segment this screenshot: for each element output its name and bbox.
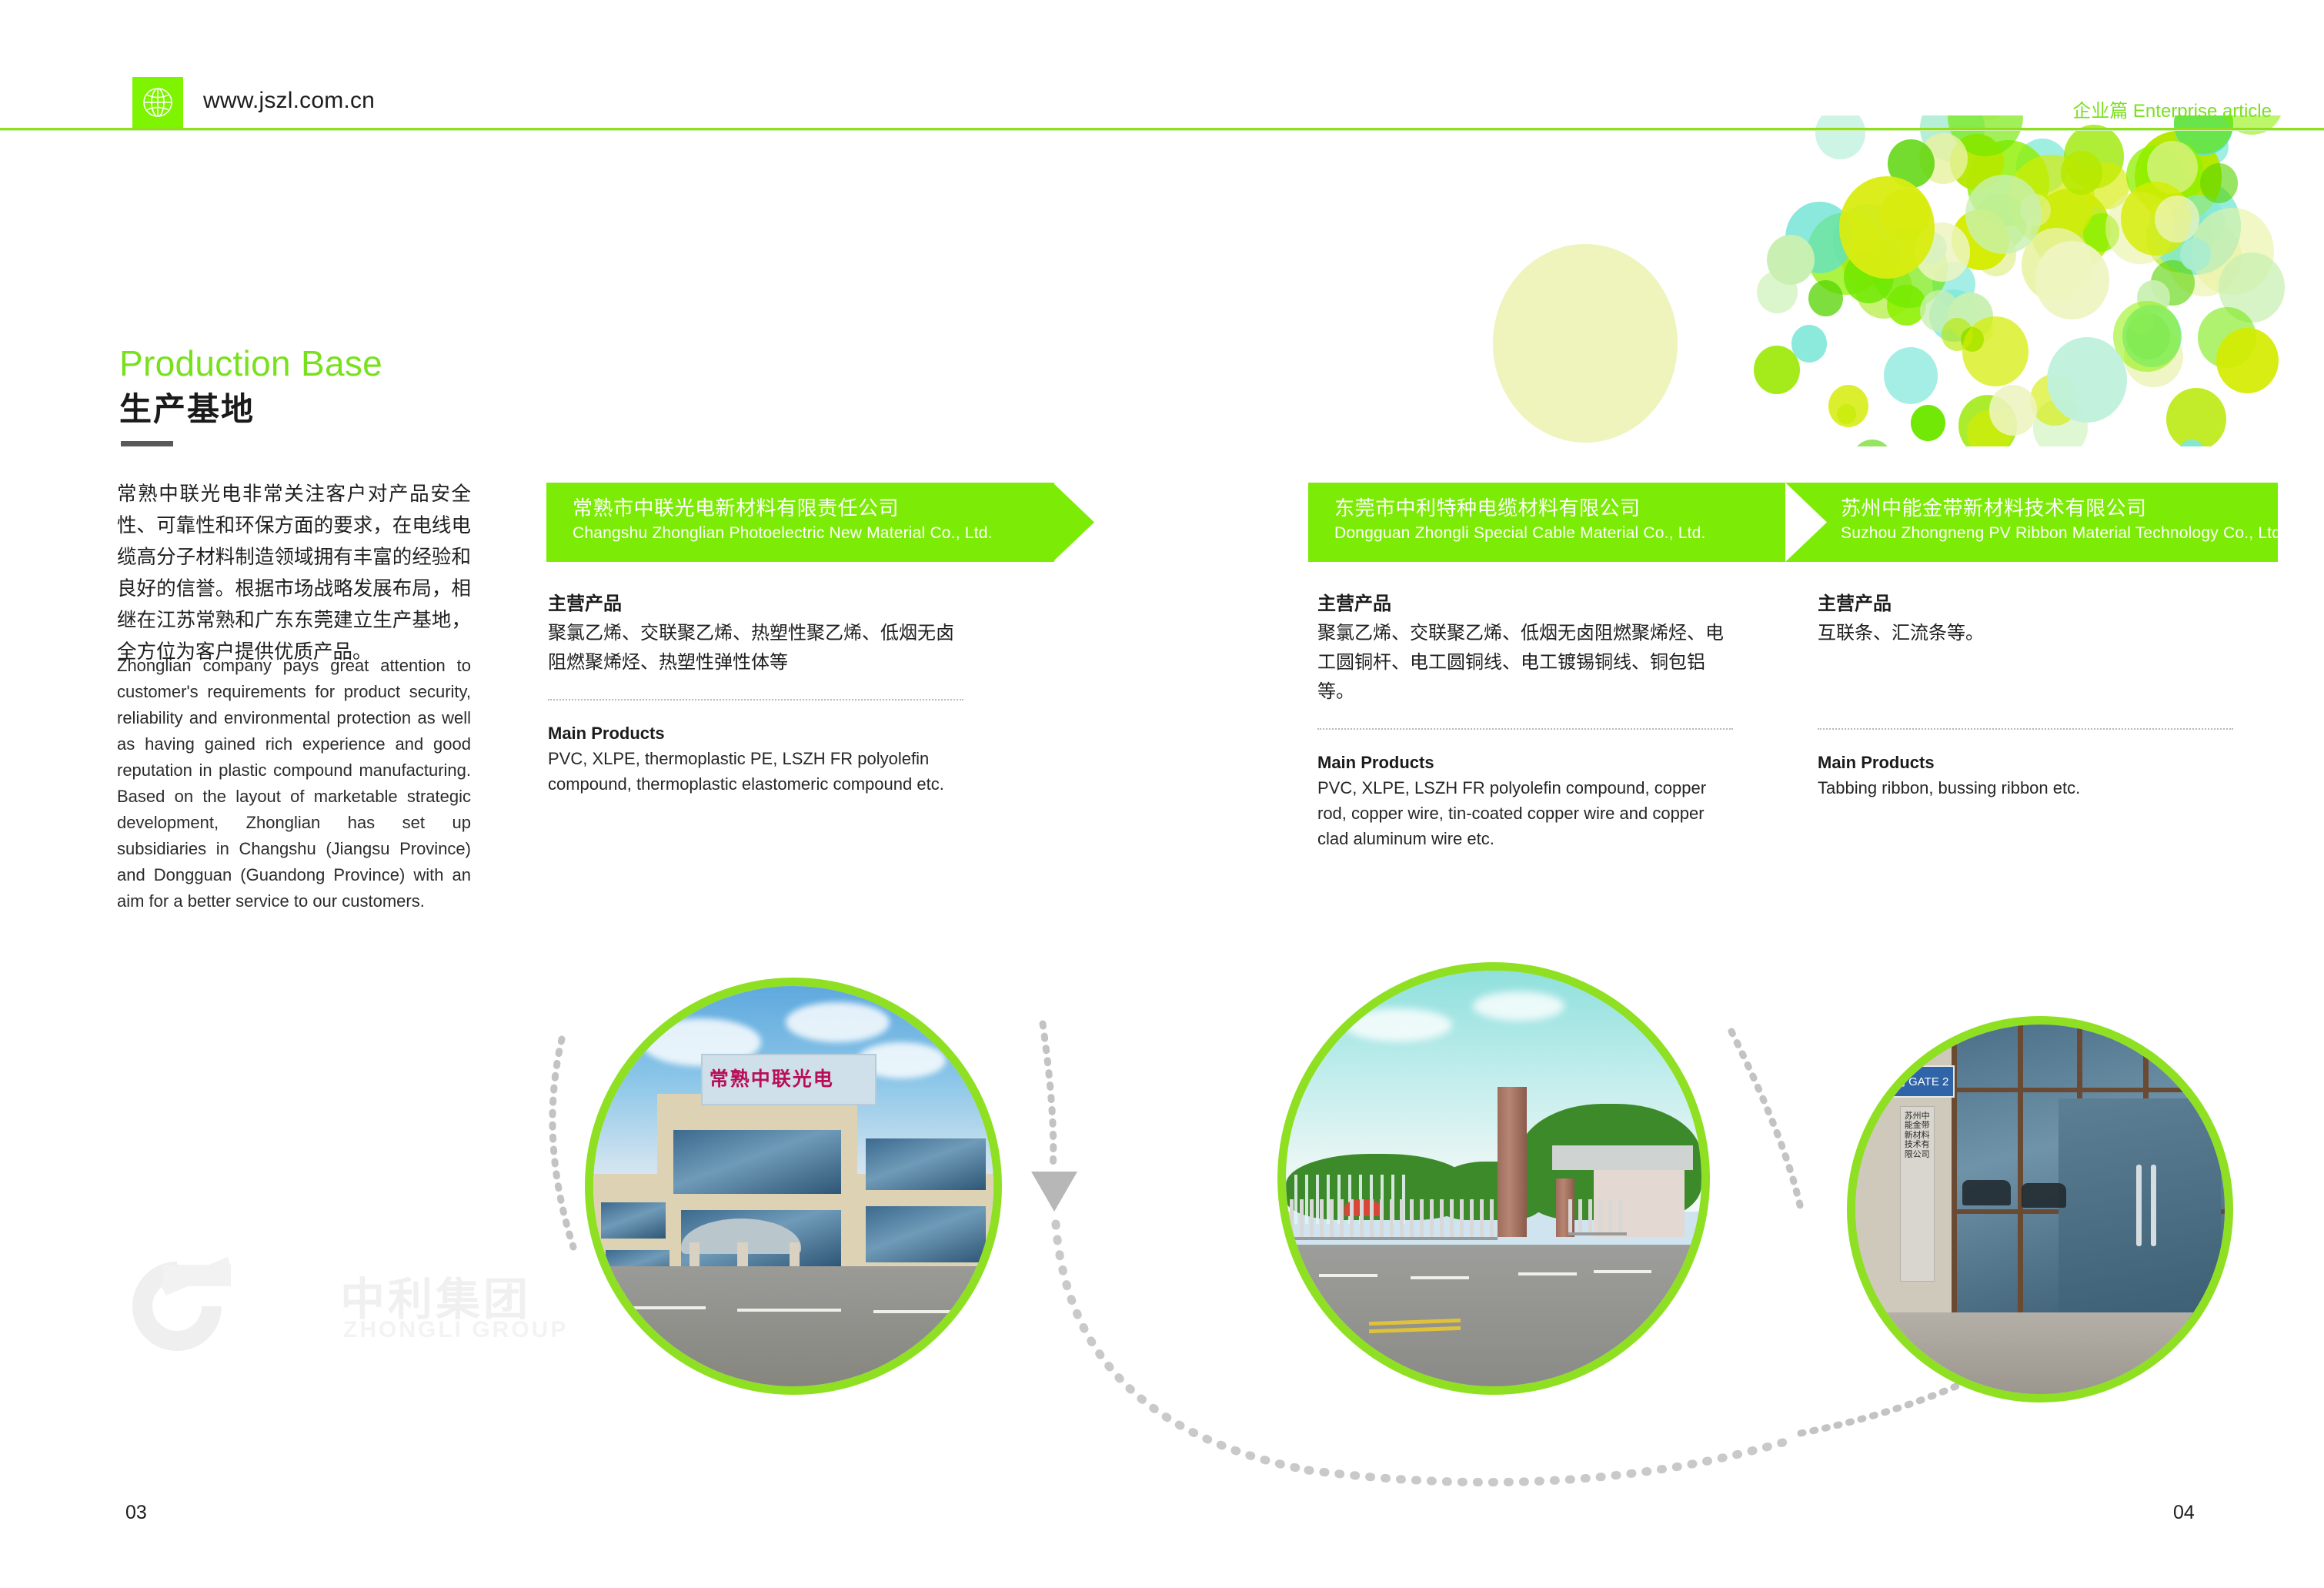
photo-caption-3: 2号门 GATE 2 [1870,1065,1955,1098]
dotted-curve-1 [1056,1224,1308,1470]
facility-photo-1: 常熟中联光电 [585,978,1002,1395]
bubble-decoration [1462,115,2324,446]
products-heading-en-2: Main Products [1317,750,1733,775]
dashed-arc-top-1 [1043,1024,1053,1170]
products-body-cn-3: 互联条、汇流条等。 [1818,619,2233,648]
company-name-en-1: Changshu Zhonglian Photoelectric New Mat… [573,521,993,546]
company-name-cn-3: 苏州中能金带新材料技术有限公司 [1841,495,2286,521]
product-column-2: 主营产品 聚氯乙烯、交联聚乙烯、低烟无卤阻燃聚烯烃、电工圆铜杆、电工圆铜线、电工… [1317,590,1733,851]
chevron-notch-icon-3 [1785,483,1827,562]
products-body-cn-2: 聚氯乙烯、交联聚乙烯、低烟无卤阻燃聚烯烃、电工圆铜杆、电工圆铜线、电工镀锡铜线、… [1317,619,1733,707]
dashed-arc-left [553,1039,573,1247]
products-body-en-2: PVC, XLPE, LSZH FR polyolefin compound, … [1317,775,1733,851]
facility-photo-3: 2号门 GATE 2 苏州中能金带新材料技术有限公司 [1847,1016,2233,1402]
zhongli-mark-icon [115,1251,239,1366]
watermark-en: ZHONGLI GROUP [343,1317,568,1343]
dotted-curve-2 [1308,1439,1793,1483]
product-column-1: 主营产品 聚氯乙烯、交联聚乙烯、热塑性聚乙烯、低烟无卤阻燃聚烯烃、热塑性弹性体等… [548,590,963,797]
intro-paragraph-cn: 常熟中联光电非常关注客户对产品安全性、可靠性和环保方面的要求，在电线电缆高分子材… [117,479,471,668]
title-underline [121,441,173,446]
column-divider-1 [548,699,963,700]
chevron-right-icon-1 [1053,483,1094,562]
products-heading-en-1: Main Products [548,720,963,746]
intro-paragraph-en: Zhonglian company pays great attention t… [117,653,471,914]
section-label: 企业篇 Enterprise article [2072,95,2272,122]
products-heading-cn-1: 主营产品 [548,590,963,619]
company-banner-3: 苏州中能金带新材料技术有限公司 Suzhou Zhongneng PV Ribb… [1785,483,2278,562]
company-name-cn-2: 东莞市中利特种电缆材料有限公司 [1334,495,1706,521]
site-url[interactable]: www.jszl.com.cn [203,88,375,114]
dashed-arc-top-2 [1731,1031,1801,1209]
column-divider-3 [1818,728,2233,730]
page-title-en: Production Base [119,343,382,384]
company-name-cn-1: 常熟市中联光电新材料有限责任公司 [573,495,993,521]
company-banner-2: 东莞市中利特种电缆材料有限公司 Dongguan Zhongli Special… [1308,483,1785,562]
brochure-page: www.jszl.com.cn 企业篇 Enterprise article P… [0,0,2324,1588]
column-divider-2 [1317,728,1733,730]
company-name-en-3: Suzhou Zhongneng PV Ribbon Material Tech… [1841,521,2286,546]
products-heading-cn-3: 主营产品 [1818,590,2233,619]
company-banner-1: 常熟市中联光电新材料有限责任公司 Changshu Zhonglian Phot… [546,483,1054,562]
page-number-left: 03 [125,1502,147,1524]
products-body-en-1: PVC, XLPE, thermoplastic PE, LSZH FR pol… [548,746,963,797]
arrow-down-icon-1 [1031,1172,1077,1212]
header-divider-light [0,130,2324,131]
company-name-en-2: Dongguan Zhongli Special Cable Material … [1334,521,1706,546]
page-number-right: 04 [2173,1502,2195,1524]
photo-caption-1: 常熟中联光电 [710,1064,834,1092]
photo-plaque-text-3: 苏州中能金带新材料技术有限公司 [1901,1112,1934,1160]
products-heading-en-3: Main Products [1818,750,2233,775]
product-column-3: 主营产品 互联条、汇流条等。 Main Products Tabbing rib… [1818,590,2233,801]
watermark-logo: 中利集团 ZHONGLI GROUP [115,1251,439,1366]
photo-plaque-3: 苏州中能金带新材料技术有限公司 [1900,1106,1935,1282]
products-body-en-3: Tabbing ribbon, bussing ribbon etc. [1818,775,2233,801]
page-title-cn: 生产基地 [119,383,255,430]
products-heading-cn-2: 主营产品 [1317,590,1733,619]
facility-photo-2 [1277,962,1710,1395]
globe-icon [132,77,183,128]
products-body-cn-1: 聚氯乙烯、交联聚乙烯、热塑性聚乙烯、低烟无卤阻燃聚烯烃、热塑性弹性体等 [548,619,963,677]
